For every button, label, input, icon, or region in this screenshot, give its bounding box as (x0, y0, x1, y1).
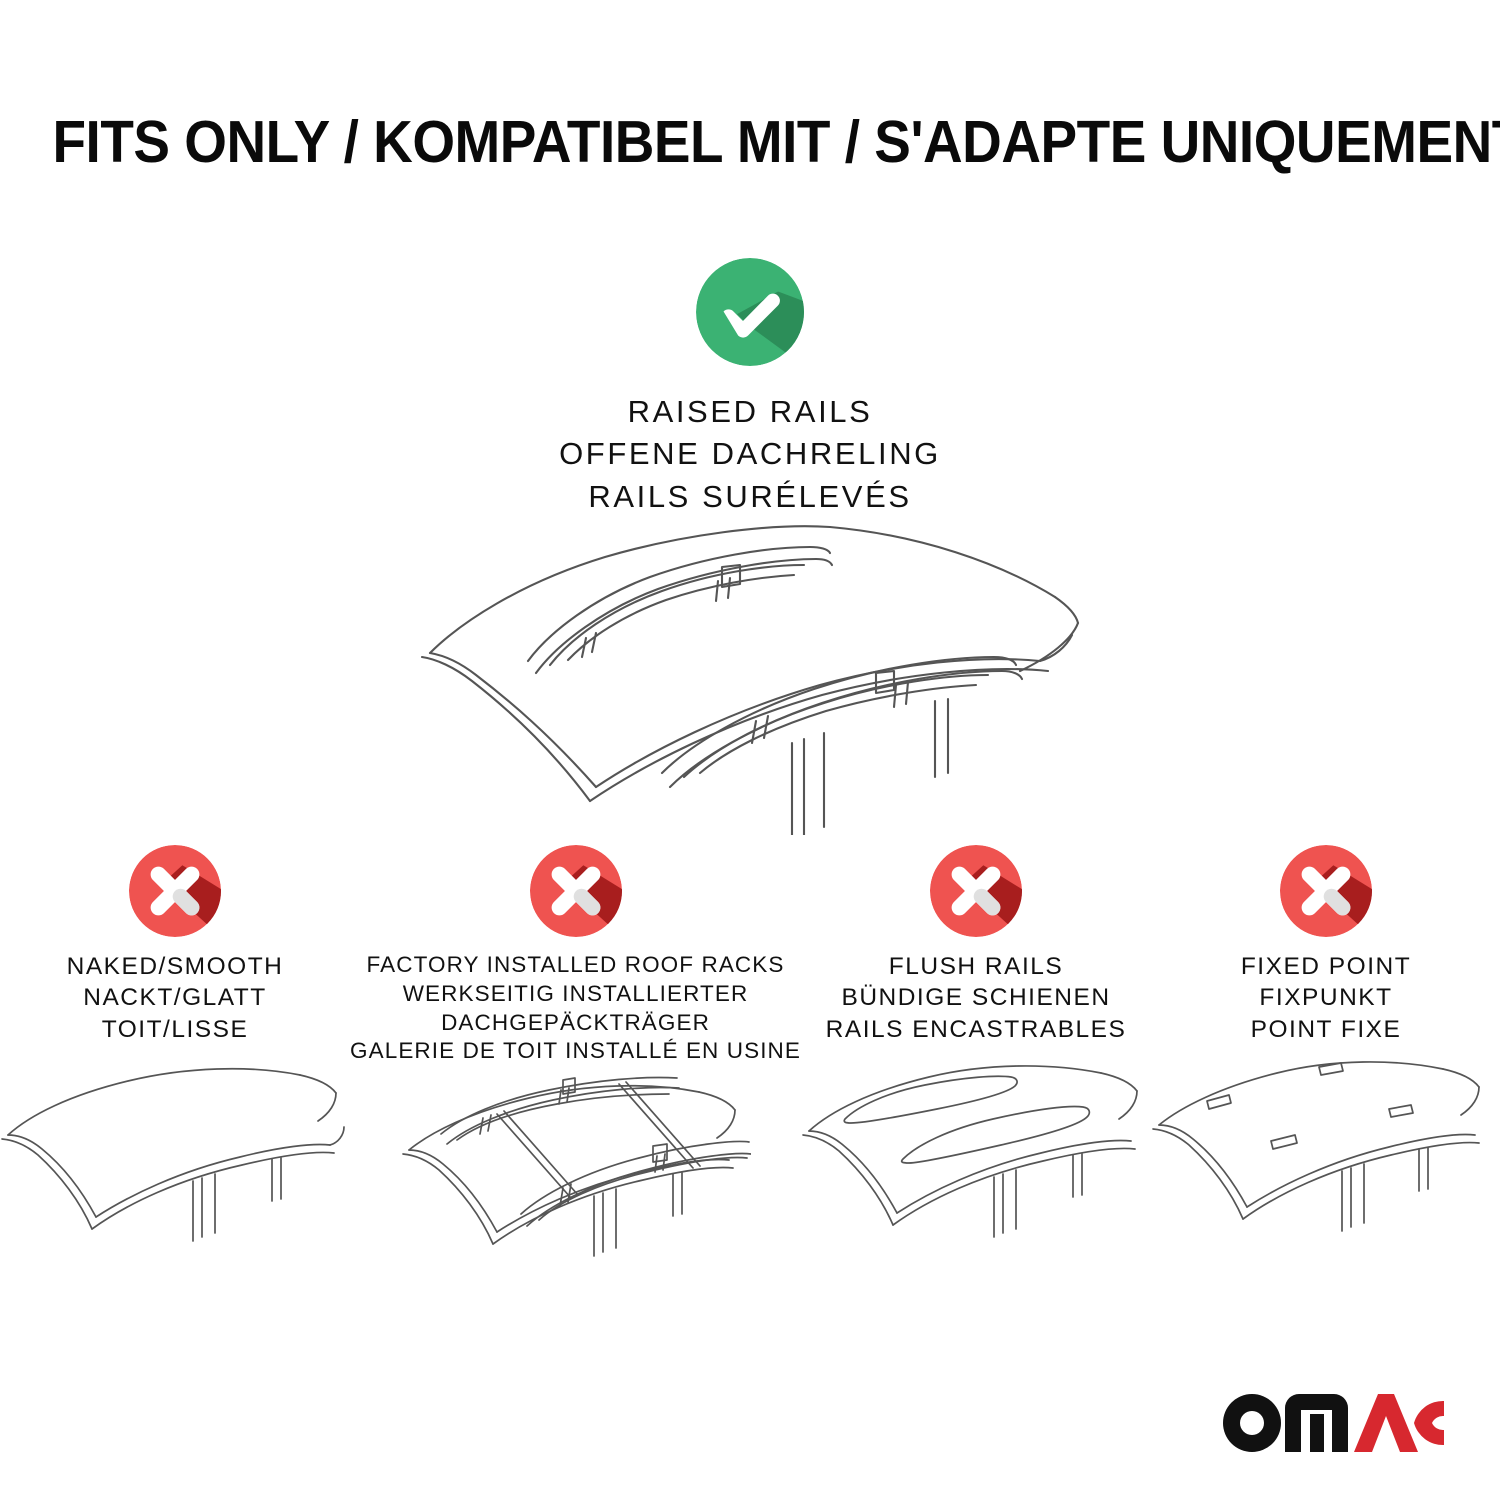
omac-logo-letter-o (1223, 1394, 1281, 1452)
rejected-label-line: TOIT/LISSE (67, 1014, 284, 1045)
omac-logo-letter-c (1414, 1401, 1444, 1445)
red-x-circle-icon (129, 845, 221, 937)
red-x-circle-icon (930, 845, 1022, 937)
omac-logo-letter-a (1354, 1394, 1418, 1452)
rejected-item-flush-rails: FLUSH RAILS BÜNDIGE SCHIENEN RAILS ENCAS… (801, 845, 1151, 1309)
approved-label-en: RAISED RAILS (0, 391, 1500, 433)
red-x-circle-icon (530, 845, 622, 937)
car-roof-factory-roof-racks-drawing (401, 1074, 751, 1309)
omac-logo-letter-m (1285, 1394, 1348, 1452)
rejected-label-group: FACTORY INSTALLED ROOF RACKS WERKSEITIG … (350, 951, 801, 1066)
rejected-label-line: NACKT/GLATT (67, 982, 284, 1013)
rejected-label-line: RAILS ENCASTRABLES (826, 1014, 1127, 1045)
rejected-label-line: WERKSEITIG INSTALLIERTER (350, 980, 801, 1009)
rejected-label-line: FACTORY INSTALLED ROOF RACKS (350, 951, 801, 980)
car-roof-fixed-point-drawing (1151, 1053, 1500, 1288)
car-roof-flush-rails-drawing (801, 1053, 1151, 1288)
rejected-label-line: FIXED POINT (1241, 951, 1411, 982)
rejected-label-line: FLUSH RAILS (826, 951, 1127, 982)
approved-label-group: RAISED RAILS OFFENE DACHRELING RAILS SUR… (0, 391, 1500, 518)
rejected-label-line: DACHGEPÄCKTRÄGER (350, 1009, 801, 1038)
approved-label-de: OFFENE DACHRELING (0, 433, 1500, 475)
rejected-item-factory-roof-racks: FACTORY INSTALLED ROOF RACKS WERKSEITIG … (350, 845, 801, 1309)
red-x-circle-icon (1280, 845, 1372, 937)
omac-logo (1222, 1392, 1444, 1454)
green-check-circle-icon (696, 258, 804, 366)
rejected-section: NAKED/SMOOTH NACKT/GLATT TOIT/LISSE (0, 845, 1500, 1309)
rejected-item-fixed-point: FIXED POINT FIXPUNKT POINT FIXE (1151, 845, 1500, 1309)
rejected-label-line: GALERIE DE TOIT INSTALLÉ EN USINE (350, 1037, 801, 1066)
rejected-label-group: FLUSH RAILS BÜNDIGE SCHIENEN RAILS ENCAS… (826, 951, 1127, 1045)
rejected-label-line: FIXPUNKT (1241, 982, 1411, 1013)
rejected-label-line: NAKED/SMOOTH (67, 951, 284, 982)
car-roof-raised-rails-drawing (400, 505, 1120, 835)
rejected-label-group: NAKED/SMOOTH NACKT/GLATT TOIT/LISSE (67, 951, 284, 1045)
car-roof-naked-smooth-drawing (0, 1053, 350, 1288)
rejected-label-line: BÜNDIGE SCHIENEN (826, 982, 1127, 1013)
rejected-label-group: FIXED POINT FIXPUNKT POINT FIXE (1241, 951, 1411, 1045)
rejected-label-line: POINT FIXE (1241, 1014, 1411, 1045)
rejected-item-naked-smooth: NAKED/SMOOTH NACKT/GLATT TOIT/LISSE (0, 845, 350, 1309)
approved-section: RAISED RAILS OFFENE DACHRELING RAILS SUR… (0, 258, 1500, 518)
page-title: FITS ONLY / KOMPATIBEL MIT / S'ADAPTE UN… (53, 108, 1448, 176)
